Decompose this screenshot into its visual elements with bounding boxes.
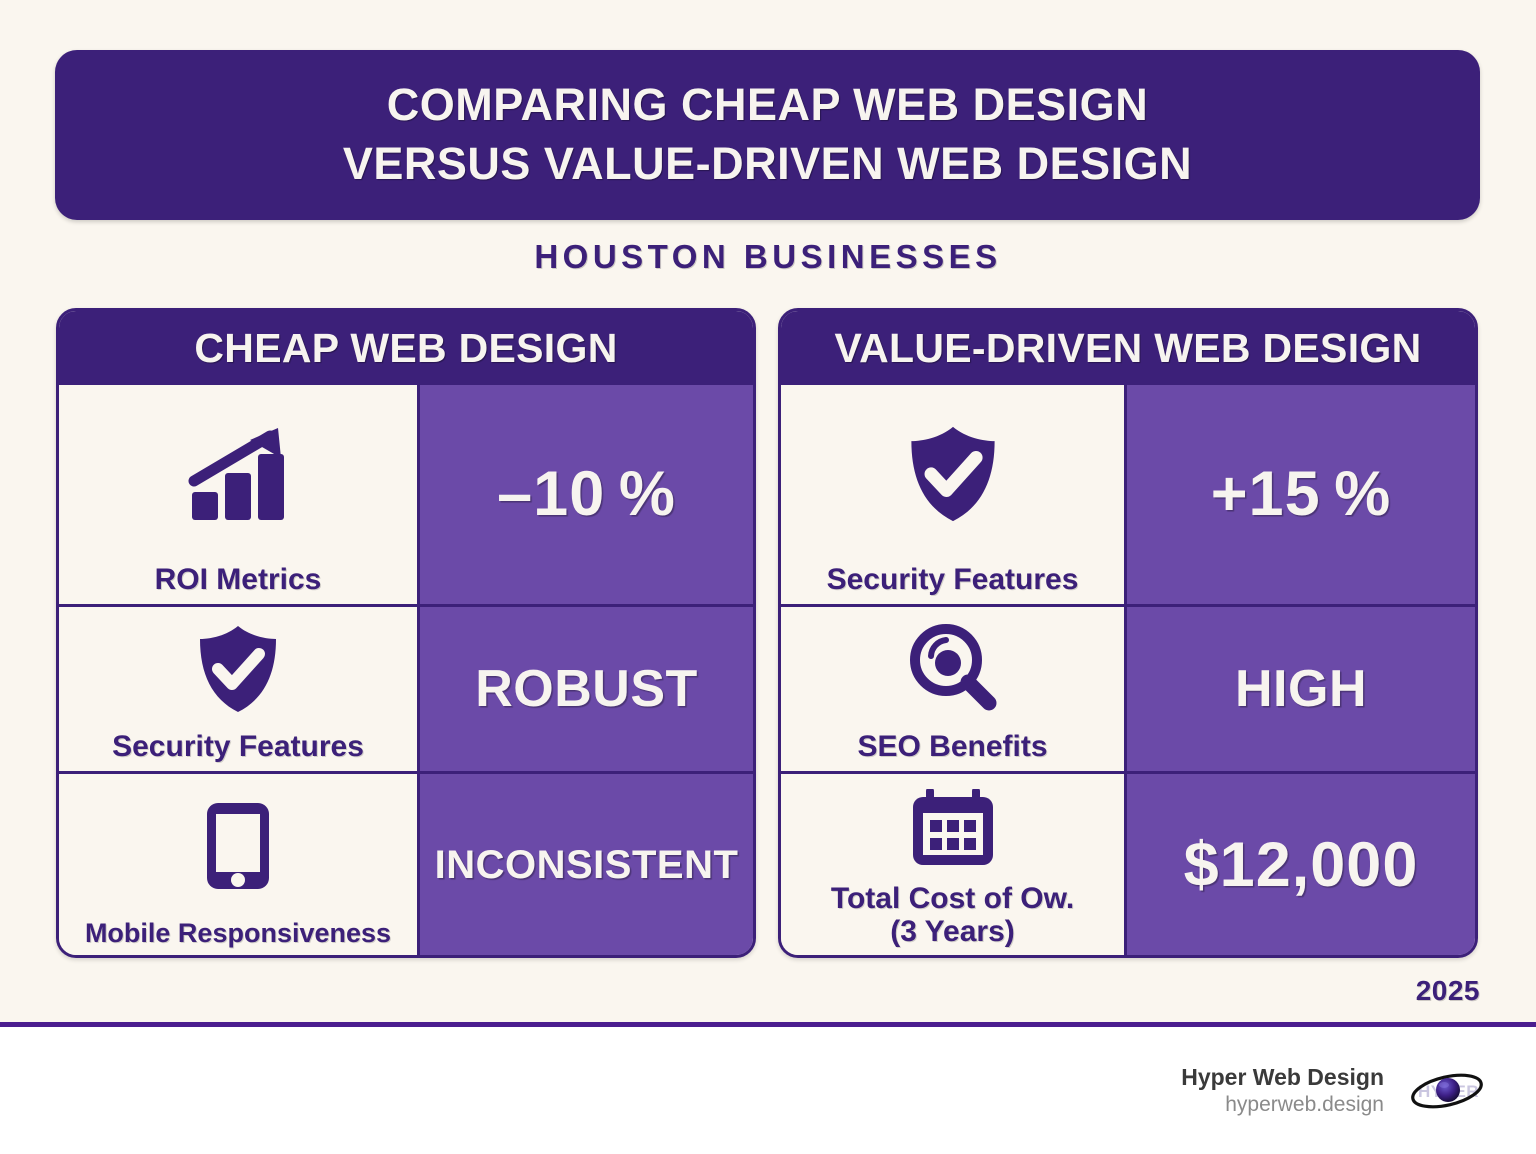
cell-label-mobile-responsiveness: Mobile Responsiveness [59,774,417,956]
cell-value-security-features: +15 % [1124,385,1475,604]
title-line-2: VERSUS VALUE-DRIVEN WEB DESIGN [343,137,1192,192]
cell-label-security-features: Security Features [781,385,1124,604]
row-label: SEO Benefits [857,731,1047,763]
row-label: Security Features [827,564,1079,596]
row-label: Security Features [112,731,364,763]
row-value: ROBUST [475,663,698,715]
bar-chart-growth-icon [59,385,417,564]
panel-header-cheap-label: CHEAP WEB DESIGN [194,325,617,372]
table-row: Security Features +15 % [781,385,1475,604]
table-row: Total Cost of Ow. (3 Years) $12,000 [781,771,1475,956]
row-value: –10 % [497,463,676,526]
cell-label-security-features: Security Features [59,607,417,771]
cell-label-seo-benefits: SEO Benefits [781,607,1124,771]
row-label-line-1: Total Cost of Ow. [831,883,1074,915]
row-value: HIGH [1235,663,1367,715]
panel-header-value: VALUE-DRIVEN WEB DESIGN [781,311,1475,385]
cell-value-seo-benefits: HIGH [1124,607,1475,771]
shield-check-icon [59,607,417,731]
row-label: ROI Metrics [155,564,322,596]
calendar-icon [781,774,1124,883]
row-label-line-2: (3 Years) [890,916,1015,948]
title-line-1: COMPARING CHEAP WEB DESIGN [387,78,1148,133]
cell-label-total-cost-of-ownership: Total Cost of Ow. (3 Years) [781,774,1124,956]
title-banner: COMPARING CHEAP WEB DESIGN VERSUS VALUE-… [55,50,1480,220]
panel-value-rows: Security Features +15 % [781,385,1475,956]
footer-bar: Hyper Web Design hyperweb.design HYPER [0,1027,1536,1154]
year-label: 2025 [1416,975,1480,1007]
cell-value-total-cost-of-ownership: $12,000 [1124,774,1475,956]
hyper-planet-logo-icon: HYPER [1408,1065,1486,1117]
mobile-phone-icon [59,774,417,919]
infographic-root: COMPARING CHEAP WEB DESIGN VERSUS VALUE-… [0,0,1536,1154]
panel-value-driven-web-design: VALUE-DRIVEN WEB DESIGN Security Feature… [778,308,1478,958]
table-row: ROI Metrics –10 % [59,385,753,604]
row-value: +15 % [1211,463,1392,526]
cell-value-security-features: ROBUST [417,607,753,771]
row-value: $12,000 [1184,834,1419,897]
panel-header-value-label: VALUE-DRIVEN WEB DESIGN [834,325,1421,372]
cell-label-roi-metrics: ROI Metrics [59,385,417,604]
row-value: INCONSISTENT [435,845,739,885]
panel-cheap-web-design: CHEAP WEB DESIGN [56,308,756,958]
table-row: Mobile Responsiveness INCONSISTENT [59,771,753,956]
brand-url[interactable]: hyperweb.design [1181,1092,1384,1118]
table-row: Security Features ROBUST [59,604,753,771]
row-label: Mobile Responsiveness [85,919,391,948]
brand-name: Hyper Web Design [1181,1063,1384,1092]
magnifier-search-icon [781,607,1124,731]
cell-value-mobile-responsiveness: INCONSISTENT [417,774,753,956]
cell-value-roi-metrics: –10 % [417,385,753,604]
panel-cheap-rows: ROI Metrics –10 % Security Features [59,385,753,956]
panel-header-cheap: CHEAP WEB DESIGN [59,311,753,385]
shield-check-icon [781,385,1124,564]
table-row: SEO Benefits HIGH [781,604,1475,771]
brand-text-block: Hyper Web Design hyperweb.design [1181,1063,1384,1118]
subtitle: HOUSTON BUSINESSES [0,238,1536,276]
